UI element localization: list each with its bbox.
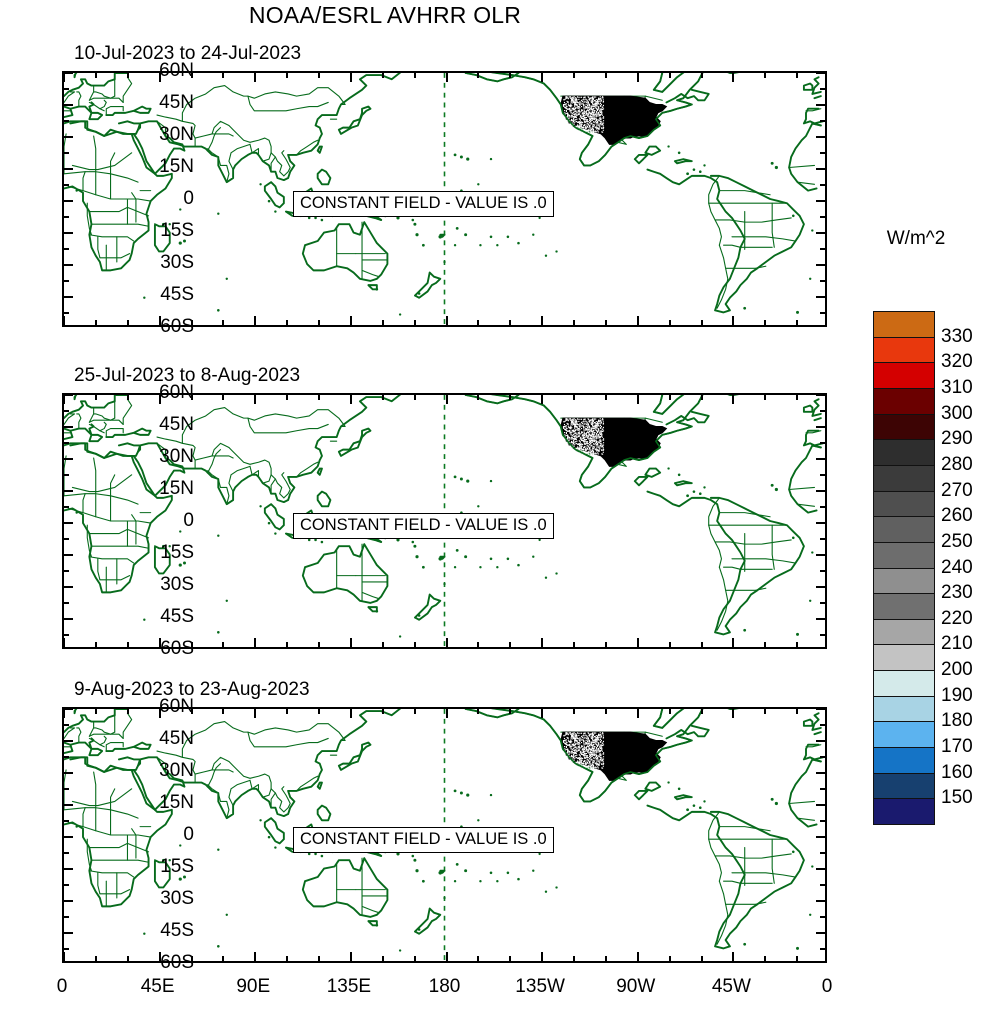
axis-tick <box>127 709 129 714</box>
axis-tick <box>820 852 825 854</box>
axis-tick <box>64 474 69 476</box>
island-marker <box>179 844 181 846</box>
country-border <box>724 245 773 247</box>
axis-tick <box>64 788 69 790</box>
axis-tick <box>669 320 671 325</box>
coastline <box>339 743 371 770</box>
axis-tick <box>541 709 543 718</box>
colorbar-band <box>873 337 935 364</box>
axis-tick <box>64 916 69 918</box>
axis-tick <box>318 73 320 78</box>
coastline <box>318 806 331 821</box>
axis-tick <box>318 320 320 325</box>
axis-tick <box>732 316 734 325</box>
colorbar-band <box>873 465 935 492</box>
axis-tick <box>64 740 73 742</box>
island-marker <box>703 486 705 488</box>
colorbar-band <box>873 721 935 748</box>
island-marker <box>517 878 520 881</box>
axis-tick <box>64 280 69 282</box>
coastline <box>812 399 820 416</box>
axis-tick <box>446 73 448 82</box>
island-marker <box>376 288 379 291</box>
axis-tick <box>820 634 825 636</box>
x-axis-label: 180 <box>429 976 461 998</box>
country-border <box>77 414 81 429</box>
island-marker <box>443 897 445 899</box>
colorbar: 3303203103002902802702602502402302202102… <box>873 311 935 824</box>
axis-tick <box>254 316 256 325</box>
constant-field-annotation: CONSTANT FIELD - VALUE IS .0 <box>293 827 554 853</box>
axis-tick <box>64 232 73 234</box>
axis-tick <box>64 932 73 934</box>
country-border <box>77 92 81 107</box>
axis-tick <box>64 804 73 806</box>
coastline <box>318 147 322 153</box>
island-marker <box>496 244 498 246</box>
island-marker <box>308 539 311 542</box>
axis-tick <box>637 709 639 718</box>
island-marker <box>438 871 442 875</box>
axis-tick <box>637 952 639 961</box>
island-marker <box>464 555 467 558</box>
axis-tick <box>127 320 129 325</box>
island-marker <box>460 792 463 795</box>
axis-tick <box>254 73 256 82</box>
island-marker <box>743 307 746 310</box>
axis-tick <box>816 522 825 524</box>
axis-tick <box>222 395 224 400</box>
colorbar-tick-label: 230 <box>941 582 973 604</box>
x-axis-label: 135E <box>327 976 371 998</box>
country-border <box>100 736 106 744</box>
axis-tick <box>816 618 825 620</box>
axis-tick <box>477 395 479 400</box>
axis-tick <box>573 709 575 714</box>
axis-tick <box>541 638 543 647</box>
country-border <box>195 757 229 774</box>
axis-tick <box>286 709 288 714</box>
country-border <box>195 121 229 138</box>
island-marker <box>376 924 379 927</box>
axis-tick <box>669 956 671 961</box>
country-border <box>94 414 105 418</box>
axis-tick <box>64 458 73 460</box>
colorbar-band <box>873 644 935 671</box>
colorbar-tick-label: 300 <box>941 403 973 425</box>
axis-tick <box>509 956 511 961</box>
axis-tick <box>820 442 825 444</box>
coastline <box>368 607 376 611</box>
y-axis-label: 0 <box>183 824 194 846</box>
country-border <box>271 157 275 172</box>
island-marker <box>438 235 442 239</box>
axis-tick <box>286 320 288 325</box>
island-marker <box>507 236 510 239</box>
axis-tick <box>414 642 416 647</box>
coastline <box>265 504 284 529</box>
axis-tick <box>446 395 448 404</box>
island-marker <box>454 790 457 793</box>
island-marker <box>456 549 459 552</box>
colorbar-tick-label: 310 <box>941 377 973 399</box>
y-axis-label: 45S <box>160 284 194 306</box>
axis-tick <box>64 88 69 90</box>
axis-tick <box>605 709 607 714</box>
axis-tick <box>64 442 69 444</box>
x-axis-label: 135W <box>515 976 565 998</box>
island-marker <box>496 566 498 568</box>
axis-tick <box>669 642 671 647</box>
island-marker <box>75 189 77 191</box>
island-marker <box>771 798 774 801</box>
coastline <box>645 783 660 791</box>
island-marker <box>259 183 261 185</box>
axis-tick <box>254 395 256 404</box>
axis-tick <box>669 73 671 78</box>
coastline <box>106 107 150 115</box>
coastline <box>208 73 445 182</box>
island-marker <box>418 928 421 931</box>
axis-tick <box>732 73 734 82</box>
country-border <box>229 761 271 788</box>
axis-tick <box>732 395 734 404</box>
island-marker <box>422 880 425 883</box>
country-border <box>100 890 130 894</box>
axis-tick <box>446 952 448 961</box>
island-marker <box>555 572 557 574</box>
axis-tick <box>541 316 543 325</box>
axis-tick <box>764 709 766 714</box>
island-marker <box>796 633 799 636</box>
country-border <box>91 860 148 862</box>
country-border <box>362 592 379 598</box>
coastline <box>75 73 109 77</box>
axis-tick <box>764 320 766 325</box>
axis-tick <box>64 152 69 154</box>
colorbar-band <box>873 593 935 620</box>
axis-tick <box>605 395 607 400</box>
coastline <box>70 738 102 755</box>
y-axis-label: 30S <box>160 888 194 910</box>
island-marker <box>811 551 813 553</box>
colorbar-tick-label: 330 <box>941 326 973 348</box>
y-axis-label: 45N <box>159 92 194 114</box>
us-county-boundaries-fill <box>561 732 667 780</box>
axis-tick <box>64 756 69 758</box>
country-border <box>100 576 130 580</box>
island-marker <box>217 945 220 948</box>
coastline <box>368 921 376 925</box>
island-marker <box>507 558 510 561</box>
axis-tick <box>541 73 543 82</box>
axis-tick <box>414 956 416 961</box>
island-marker <box>274 532 276 534</box>
country-border <box>229 447 271 474</box>
country-border <box>732 873 795 877</box>
country-border <box>89 871 133 877</box>
coastline <box>318 783 322 789</box>
axis-tick <box>816 836 825 838</box>
island-marker <box>413 223 416 226</box>
axis-tick <box>701 320 703 325</box>
coastline <box>804 406 812 412</box>
country-border <box>64 494 138 504</box>
country-border <box>229 780 250 805</box>
coastline <box>265 818 284 843</box>
island-marker <box>809 278 811 280</box>
colorbar-band <box>873 747 935 774</box>
island-marker <box>274 846 276 848</box>
island-marker <box>308 853 311 856</box>
axis-tick <box>414 320 416 325</box>
axis-tick <box>318 395 320 400</box>
country-border <box>132 193 136 222</box>
island-marker <box>454 244 456 246</box>
axis-tick <box>95 395 97 400</box>
coastline <box>812 77 820 94</box>
island-marker <box>479 880 481 882</box>
axis-tick <box>605 73 607 78</box>
island-marker <box>809 914 811 916</box>
axis-tick <box>64 836 73 838</box>
axis-tick <box>127 73 129 78</box>
axis-tick <box>477 320 479 325</box>
axis-tick <box>350 73 352 82</box>
axis-tick <box>63 316 65 325</box>
axis-tick <box>637 395 639 404</box>
island-marker <box>466 158 469 161</box>
y-axis-label: 15N <box>159 478 194 500</box>
island-marker <box>460 156 463 159</box>
axis-tick <box>64 570 69 572</box>
coastline <box>303 222 388 281</box>
colorbar-band <box>873 388 935 415</box>
colorbar-tick-label: 150 <box>941 787 973 809</box>
country-border <box>271 793 275 808</box>
axis-tick <box>820 884 825 886</box>
colorbar-band <box>873 670 935 697</box>
island-marker <box>464 233 467 236</box>
axis-tick <box>820 88 825 90</box>
island-marker <box>796 947 799 950</box>
axis-tick <box>541 395 543 404</box>
y-axis-label: 60S <box>160 316 194 338</box>
axis-tick <box>414 73 416 78</box>
axis-tick <box>64 634 69 636</box>
axis-tick <box>701 709 703 714</box>
island-marker <box>268 836 271 839</box>
island-marker <box>479 244 481 246</box>
axis-tick <box>796 956 798 961</box>
axis-tick <box>64 900 73 902</box>
island-marker <box>507 872 510 875</box>
axis-tick <box>816 804 825 806</box>
y-axis-label: 15S <box>160 220 194 242</box>
island-marker <box>775 488 778 491</box>
country-border <box>715 854 791 858</box>
y-axis-label: 30S <box>160 252 194 274</box>
country-border <box>709 812 722 881</box>
axis-tick <box>816 708 825 710</box>
axis-tick <box>573 642 575 647</box>
axis-tick <box>573 73 575 78</box>
island-marker <box>703 800 705 802</box>
axis-tick <box>63 638 65 647</box>
axis-tick <box>816 394 825 396</box>
axis-tick <box>63 395 65 404</box>
axis-tick <box>64 394 73 396</box>
island-marker <box>415 869 418 872</box>
axis-tick <box>820 788 825 790</box>
axis-tick <box>64 312 69 314</box>
colorbar-band <box>873 542 935 569</box>
axis-tick <box>605 320 607 325</box>
y-axis-label: 45S <box>160 920 194 942</box>
y-axis-label: 15S <box>160 856 194 878</box>
axis-tick <box>701 956 703 961</box>
country-border <box>772 839 774 883</box>
colorbar-band <box>873 516 935 543</box>
axis-tick <box>816 104 825 106</box>
island-marker <box>321 855 324 858</box>
island-marker <box>811 865 813 867</box>
axis-tick <box>414 395 416 400</box>
axis-tick <box>816 72 825 74</box>
country-border <box>772 525 774 569</box>
colorbar-band <box>873 773 935 800</box>
axis-tick <box>509 73 511 78</box>
island-marker <box>454 566 456 568</box>
axis-tick <box>382 320 384 325</box>
island-marker <box>217 535 219 537</box>
country-border <box>709 176 722 245</box>
axis-tick <box>764 395 766 400</box>
axis-tick <box>820 184 825 186</box>
island-marker <box>796 311 799 314</box>
colorbar-band <box>873 798 935 825</box>
country-border <box>132 829 136 858</box>
coastline <box>70 424 102 441</box>
axis-tick <box>64 884 69 886</box>
us-county-boundaries-fill <box>561 418 667 466</box>
y-axis-label: 60S <box>160 952 194 974</box>
colorbar-tick-label: 240 <box>941 557 973 579</box>
axis-tick <box>64 426 73 428</box>
axis-tick <box>350 395 352 404</box>
island-marker <box>555 886 557 888</box>
axis-tick <box>318 956 320 961</box>
country-border <box>263 789 271 797</box>
axis-tick <box>64 168 73 170</box>
axis-tick <box>820 948 825 950</box>
island-marker <box>464 869 467 872</box>
axis-tick <box>318 642 320 647</box>
colorbar-units-label: W/m^2 <box>861 228 971 250</box>
island-marker <box>699 170 702 173</box>
axis-tick <box>816 586 825 588</box>
island-marker <box>490 158 492 160</box>
axis-tick <box>816 264 825 266</box>
island-marker <box>143 619 145 621</box>
country-border <box>94 458 96 517</box>
axis-tick <box>637 73 639 82</box>
y-axis-label: 60N <box>159 382 194 404</box>
axis-tick <box>64 618 73 620</box>
island-marker <box>496 880 498 882</box>
country-border <box>98 237 100 258</box>
constant-field-annotation: CONSTANT FIELD - VALUE IS .0 <box>293 513 554 539</box>
island-marker <box>678 152 681 155</box>
axis-tick <box>816 426 825 428</box>
axis-tick <box>509 395 511 400</box>
country-border <box>229 144 250 169</box>
island-marker <box>274 210 276 212</box>
island-marker <box>217 309 220 312</box>
country-border <box>91 546 148 548</box>
island-marker <box>217 631 220 634</box>
island-marker <box>422 566 425 569</box>
island-marker <box>686 494 689 497</box>
axis-tick <box>573 320 575 325</box>
island-marker <box>809 600 811 602</box>
country-border <box>94 92 105 96</box>
colorbar-tick-label: 280 <box>941 454 973 476</box>
island-marker <box>792 215 795 218</box>
axis-tick <box>382 642 384 647</box>
island-marker <box>667 467 669 469</box>
coastline <box>645 469 660 477</box>
axis-tick <box>382 395 384 400</box>
axis-tick <box>816 772 825 774</box>
axis-tick <box>816 900 825 902</box>
country-border <box>123 399 131 424</box>
axis-tick <box>701 73 703 78</box>
island-marker <box>418 614 421 617</box>
island-marker <box>454 154 457 157</box>
country-border <box>732 237 795 241</box>
country-border <box>100 254 130 258</box>
country-border <box>123 77 131 102</box>
island-marker <box>532 870 534 872</box>
axis-tick <box>64 410 69 412</box>
island-marker <box>314 217 317 220</box>
island-marker <box>743 629 746 632</box>
island-marker <box>775 802 778 805</box>
colorbar-band <box>873 568 935 595</box>
axis-tick <box>64 772 73 774</box>
coastline <box>303 544 388 603</box>
axis-tick <box>637 638 639 647</box>
country-border <box>248 418 328 433</box>
island-marker <box>411 219 414 222</box>
colorbar-tick-label: 260 <box>941 505 973 527</box>
axis-tick <box>222 320 224 325</box>
island-marker <box>314 853 317 856</box>
axis-tick <box>64 490 73 492</box>
axis-tick <box>816 232 825 234</box>
country-border <box>100 422 106 430</box>
axis-tick <box>64 586 73 588</box>
island-marker <box>321 541 324 544</box>
colorbar-tick-label: 210 <box>941 633 973 655</box>
island-marker <box>454 476 457 479</box>
coastline <box>635 791 648 799</box>
axis-tick <box>382 73 384 78</box>
island-marker <box>413 545 416 548</box>
coastline <box>675 159 692 163</box>
country-border <box>248 732 328 747</box>
